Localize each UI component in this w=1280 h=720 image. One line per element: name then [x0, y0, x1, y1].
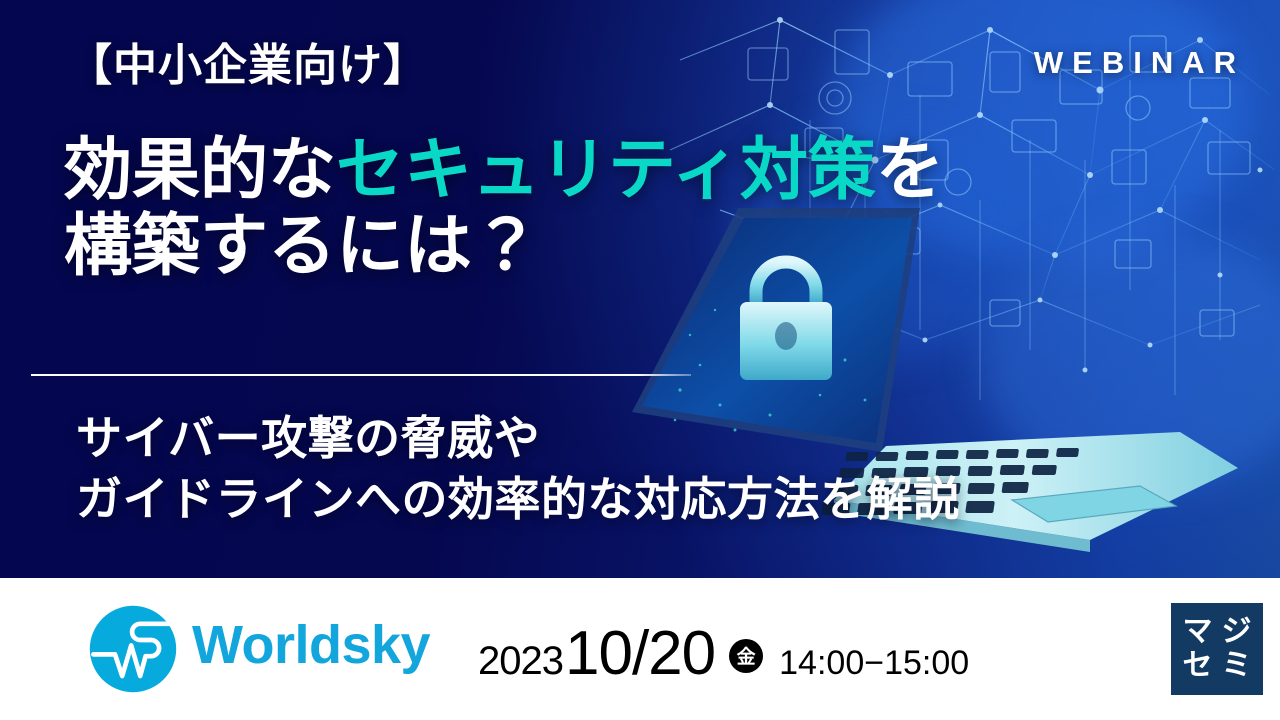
- event-datetime: 2023 10/20 金 14:00−15:00: [478, 618, 969, 689]
- webinar-banner: WEBINAR 【中小企業向け】 効果的なセキュリティ対策を 構築するには？ サ…: [0, 0, 1280, 720]
- divider: [31, 374, 691, 376]
- footer-bar: Worldsky 2023 10/20 金 14:00−15:00 マ ジ セ …: [0, 578, 1280, 720]
- event-dayofweek-badge: 金: [729, 639, 763, 673]
- headline-part-white: 効果的な: [64, 132, 336, 208]
- majisemi-char: セ: [1178, 649, 1217, 683]
- worldsky-logo-icon: [88, 604, 178, 694]
- event-monthday: 10/20: [565, 618, 715, 689]
- majisemi-logo-badge: マ ジ セ ミ: [1171, 603, 1263, 695]
- majisemi-char: ミ: [1217, 649, 1256, 683]
- headline-part-highlight: セキュリティ対策: [336, 132, 876, 208]
- target-audience-kicker: 【中小企業向け】: [68, 44, 428, 88]
- headline-line-2: 構築するには？: [64, 208, 540, 284]
- majisemi-char: ジ: [1217, 615, 1256, 649]
- webinar-label: WEBINAR: [1034, 47, 1245, 78]
- event-year: 2023: [478, 639, 563, 684]
- subtitle-line-2: ガイドラインへの効率的な対応方法を解説: [76, 469, 1176, 530]
- subtitle-line-1: サイバー攻撃の脅威や: [76, 408, 1176, 469]
- page-title: 効果的なセキュリティ対策を 構築するには？: [64, 132, 1124, 284]
- subtitle: サイバー攻撃の脅威や ガイドラインへの効率的な対応方法を解説: [76, 408, 1176, 530]
- majisemi-char: マ: [1178, 615, 1217, 649]
- event-time-range: 14:00−15:00: [779, 644, 969, 683]
- headline-part-particle: を: [876, 132, 944, 208]
- worldsky-wordmark: Worldsky: [192, 618, 430, 672]
- hero-section: WEBINAR 【中小企業向け】 効果的なセキュリティ対策を 構築するには？ サ…: [0, 0, 1280, 578]
